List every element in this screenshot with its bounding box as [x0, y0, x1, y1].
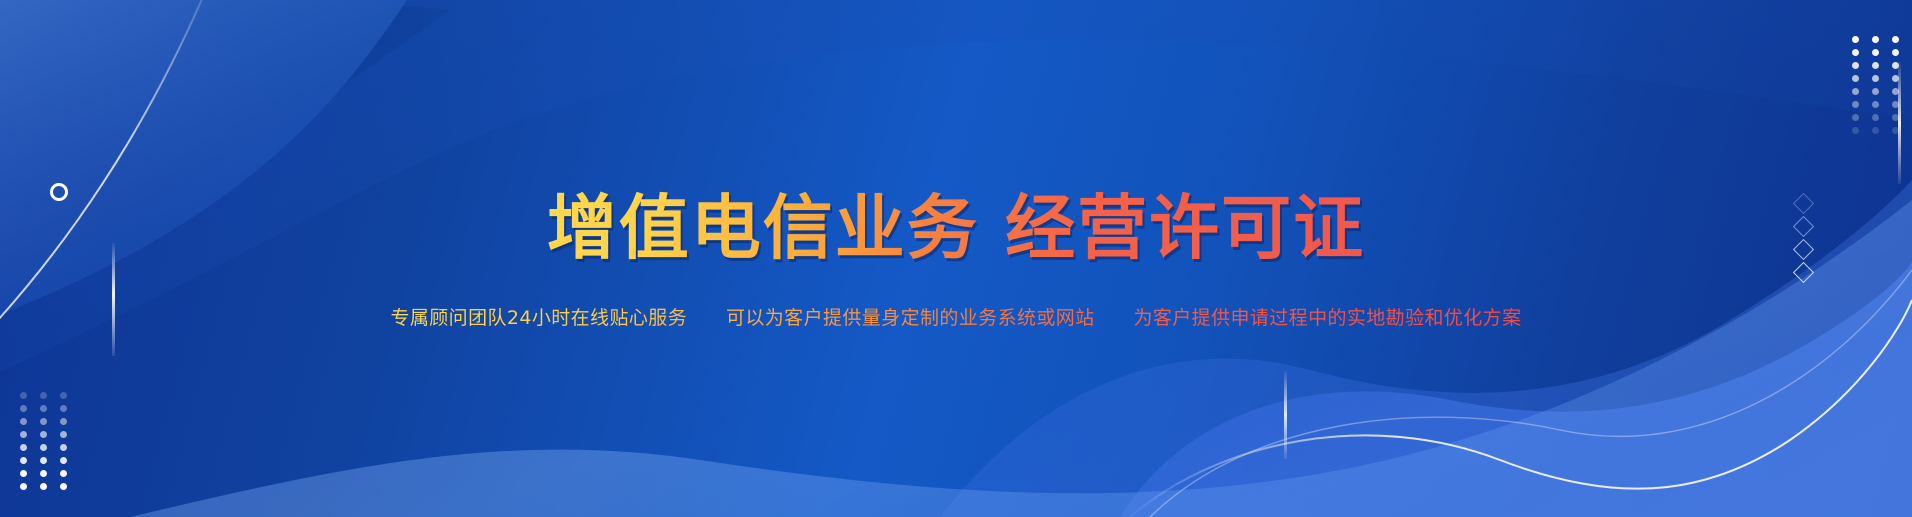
banner-content: 增值电信业务 经营许可证 专属顾问团队24小时在线贴心服务 可以为客户提供量身定… — [0, 0, 1912, 517]
banner-subtitle: 专属顾问团队24小时在线贴心服务 可以为客户提供量身定制的业务系统或网站 为客户… — [390, 307, 1521, 330]
subtitle-item-1: 专属顾问团队24小时在线贴心服务 — [390, 307, 687, 329]
subtitle-item-3: 为客户提供申请过程中的实地勘验和优化方案 — [1133, 307, 1521, 329]
banner-headline: 增值电信业务 经营许可证 — [547, 187, 1365, 273]
promo-banner: 增值电信业务 经营许可证 专属顾问团队24小时在线贴心服务 可以为客户提供量身定… — [0, 0, 1912, 517]
subtitle-item-2: 可以为客户提供量身定制的业务系统或网站 — [726, 307, 1095, 329]
